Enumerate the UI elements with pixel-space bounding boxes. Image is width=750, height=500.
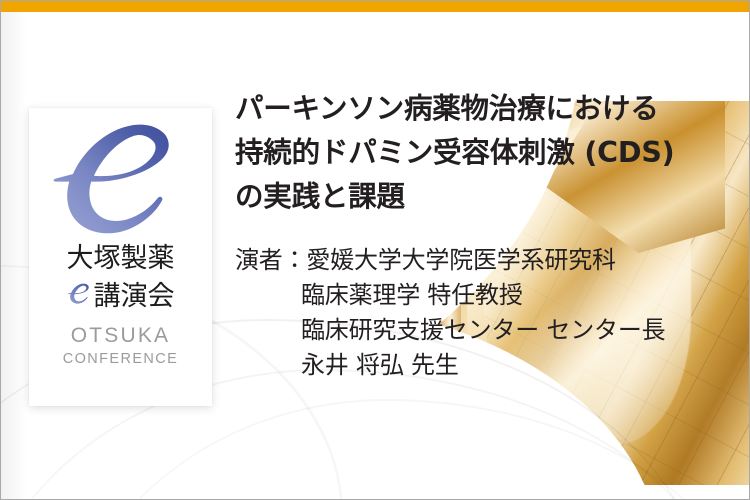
- top-accent-bar: [1, 1, 750, 12]
- logo-japanese-subtitle-row: 講演会: [67, 275, 175, 311]
- stylized-italic-e-icon-small: [67, 279, 93, 309]
- speaker-line: 臨床研究支援センター センター長: [235, 313, 740, 348]
- white-mask-bottom-strip: [1, 485, 750, 500]
- lecture-title-line: の実践と課題: [235, 175, 740, 219]
- logo-romaji-otsuka: OTSUKA: [71, 324, 171, 348]
- otsuka-logo-card: 大塚製薬 講演会 OTSUKA CONFERENCE: [29, 108, 212, 406]
- speaker-line: 臨床薬理学 特任教授: [235, 278, 740, 313]
- speaker-line: 演者：愛媛大学大学院医学系研究科: [235, 243, 740, 278]
- lecture-title-line: 持続的ドパミン受容体刺激 (CDS): [235, 131, 740, 175]
- lecture-title: パーキンソン病薬物治療における 持続的ドパミン受容体刺激 (CDS) の実践と課…: [235, 87, 740, 219]
- conference-banner: 大塚製薬 講演会 OTSUKA CONFERENCE パーキンソン病薬物治療にお…: [0, 0, 750, 500]
- speaker-line: 永井 将弘 先生: [235, 348, 740, 383]
- stylized-italic-e-icon: [50, 122, 192, 240]
- logo-japanese-company-name: 大塚製薬: [67, 244, 175, 273]
- speaker-info: 演者：愛媛大学大学院医学系研究科 臨床薬理学 特任教授 臨床研究支援センター セ…: [235, 243, 740, 383]
- logo-japanese-subtitle: 講演会: [94, 282, 175, 311]
- logo-romaji-conference: CONFERENCE: [63, 351, 179, 367]
- content-block: パーキンソン病薬物治療における 持続的ドパミン受容体刺激 (CDS) の実践と課…: [235, 87, 740, 383]
- lecture-title-line: パーキンソン病薬物治療における: [235, 87, 740, 131]
